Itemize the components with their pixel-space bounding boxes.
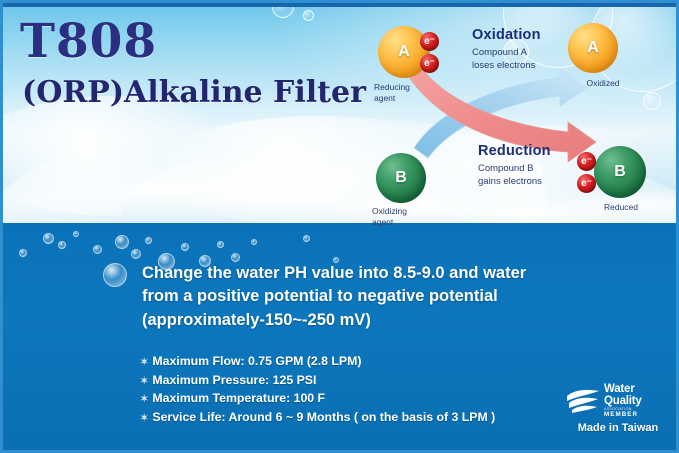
bubble-decoration <box>93 245 102 254</box>
spec-text: Maximum Pressure: 125 PSI <box>152 373 316 387</box>
bubble-decoration <box>211 184 220 193</box>
reduction-heading: Reduction <box>478 143 551 159</box>
bubble-decoration <box>131 249 141 259</box>
sphere-b-label: B <box>594 146 646 198</box>
headline-line-1: Change the water PH value into 8.5-9.0 a… <box>142 264 526 282</box>
oxidation-description: Compound A loses electrons <box>472 46 582 73</box>
logo-line-water: Water <box>604 384 642 396</box>
spec-text: Service Life: Around 6 ~ 9 Months ( on t… <box>152 410 495 424</box>
made-in-label: Made in Taiwan <box>566 422 670 434</box>
page-subtitle: (ORP)Alkaline Filter <box>22 78 366 108</box>
spec-list: ✶Maximum Flow: 0.75 GPM (2.8 LPM) ✶Maxim… <box>140 352 620 427</box>
spec-text: Maximum Flow: 0.75 GPM (2.8 LPM) <box>152 354 361 368</box>
page-title: T808 <box>20 18 366 65</box>
sphere-a-caption: Reducing agent <box>374 82 444 105</box>
top-border-bar <box>0 0 679 7</box>
logo-member-text: MEMBER <box>604 412 642 418</box>
bubble-decoration <box>58 241 66 249</box>
sphere-b-label: B <box>376 153 426 203</box>
sphere-b-reduced: B <box>594 146 646 198</box>
bubble-decoration <box>272 6 294 18</box>
bubble-decoration <box>145 237 152 244</box>
bullet-icon: ✶ <box>140 394 148 405</box>
electron-icon: e⁻ <box>420 54 439 73</box>
headline-text: Change the water PH value into 8.5-9.0 a… <box>142 262 612 332</box>
title-block: T808 (ORP)Alkaline Filter <box>20 18 366 108</box>
bubble-decoration <box>217 241 224 248</box>
bubble-decoration <box>43 233 54 244</box>
reduction-description: Compound B gains electrons <box>478 162 588 189</box>
bubble-decoration <box>19 249 27 257</box>
water-quality-association-logo: Water Quality ASSOCIATION MEMBER Made in… <box>566 384 670 434</box>
logo-line-quality: Quality <box>604 396 642 408</box>
electron-icon: e⁻ <box>420 32 439 51</box>
sphere-b-reduced-caption: Reduced <box>584 202 658 213</box>
bullet-icon: ✶ <box>140 413 148 424</box>
bubble-decoration <box>73 231 79 237</box>
bubble-decoration <box>235 192 242 199</box>
list-item: ✶Maximum Flow: 0.75 GPM (2.8 LPM) <box>140 352 620 371</box>
spec-text: Maximum Temperature: 100 F <box>152 391 325 405</box>
sphere-b-caption: Oxidizing agent <box>372 206 442 229</box>
oxidation-heading: Oxidation <box>472 27 541 43</box>
product-banner: T808 (ORP)Alkaline Filter <box>0 0 679 453</box>
bubble-decoration <box>103 263 127 287</box>
headline-line-2: from a positive potential to negative po… <box>142 287 498 305</box>
list-item: ✶Service Life: Around 6 ~ 9 Months ( on … <box>140 408 620 427</box>
bubble-decoration <box>231 253 240 262</box>
bubble-decoration <box>115 235 129 249</box>
bullet-icon: ✶ <box>140 357 148 368</box>
list-item: ✶Maximum Temperature: 100 F <box>140 389 620 408</box>
list-item: ✶Maximum Pressure: 125 PSI <box>140 371 620 390</box>
headline-line-3: (approximately-150~-250 mV) <box>142 311 371 329</box>
bubble-decoration <box>251 239 257 245</box>
cloud-shape <box>3 96 263 216</box>
sphere-a-oxidized-caption: Oxidized <box>568 78 638 89</box>
bullet-icon: ✶ <box>140 376 148 387</box>
sphere-b-oxidizing-agent: B <box>376 153 426 203</box>
wqa-wave-mark-icon <box>566 388 600 414</box>
bubble-decoration <box>303 235 310 242</box>
redox-diagram: A e⁻ e⁻ Reducing agent A Oxidized B Oxid… <box>372 8 672 220</box>
bubble-decoration <box>181 243 189 251</box>
